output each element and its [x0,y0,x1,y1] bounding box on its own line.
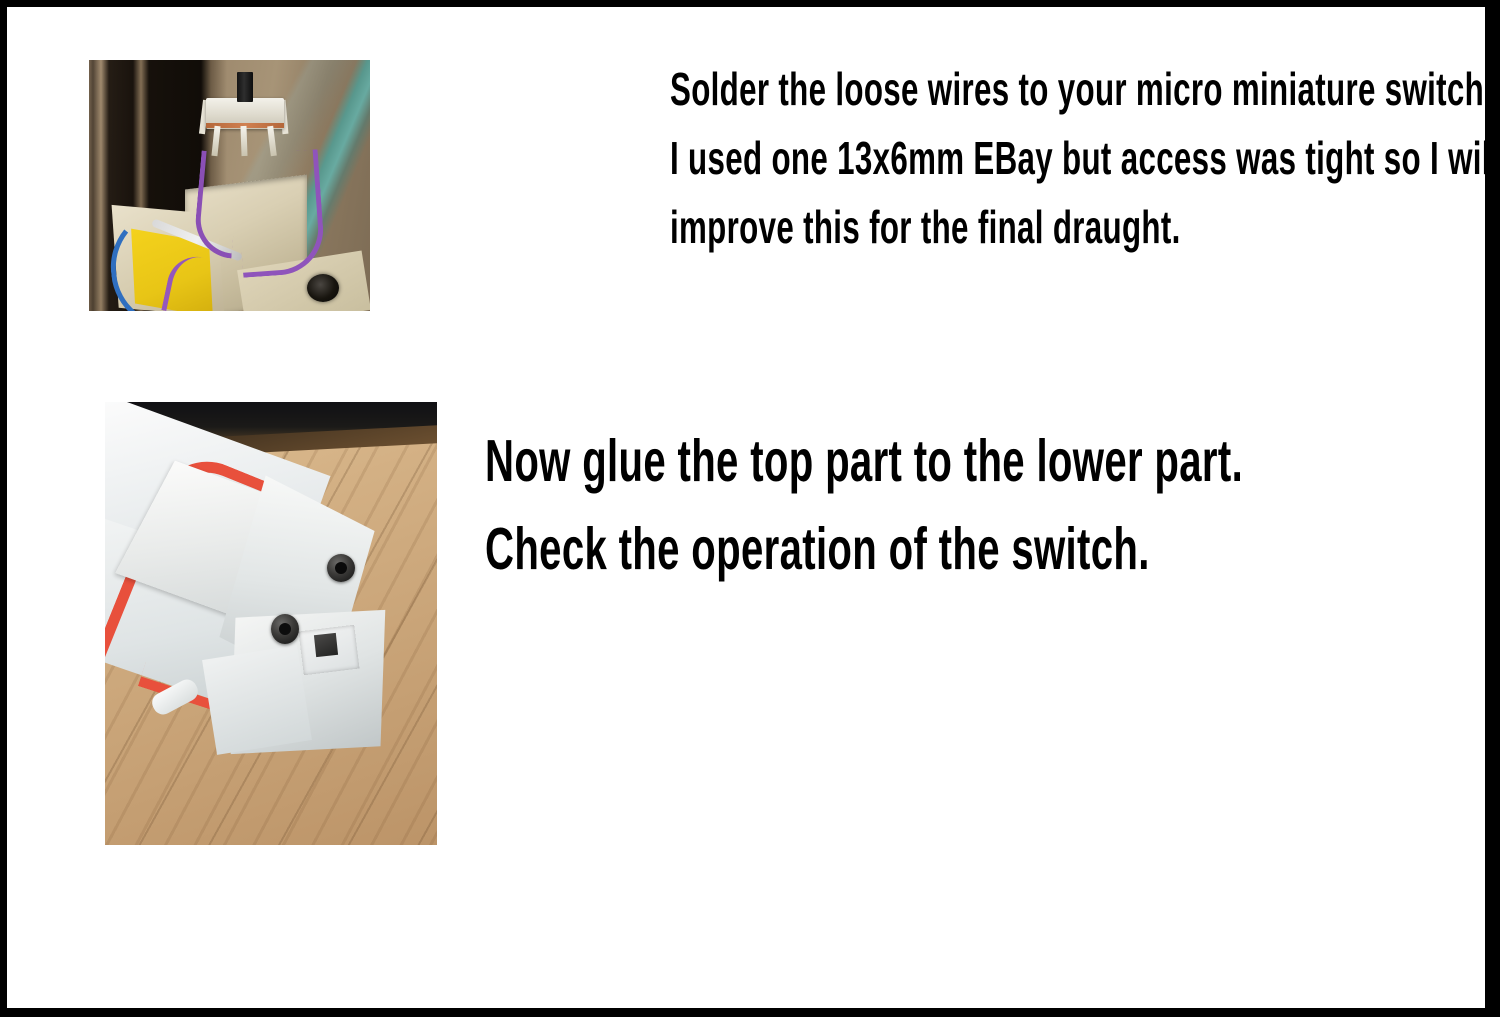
photo-glued-assembly [105,402,437,845]
printed-lower-part-side [202,645,312,755]
mounting-hole [307,274,339,302]
instruction-text-solder: Solder the loose wires to your micro min… [670,55,1500,262]
instruction-line: Solder the loose wires to your micro min… [670,55,1500,124]
purple-wire-right [235,149,326,277]
photo-switch-wiring [89,60,370,311]
slide-canvas: Solder the loose wires to your micro min… [7,7,1485,1008]
slide-frame: Solder the loose wires to your micro min… [0,0,1500,1017]
slide-switch-actuator [237,72,253,102]
bolt-head-upper [327,554,355,582]
assembled-switch [314,633,338,657]
instruction-line: I used one 13x6mm EBay but access was ti… [670,124,1500,193]
switch-pin-2 [240,126,247,156]
instruction-line: improve this for the final draught. [670,193,1500,262]
instruction-line: Check the operation of the switch. [485,505,1243,593]
instruction-text-glue: Now glue the top part to the lower part.… [485,417,1243,593]
bolt-head-lower [271,614,299,644]
instruction-line: Now glue the top part to the lower part. [485,417,1243,505]
